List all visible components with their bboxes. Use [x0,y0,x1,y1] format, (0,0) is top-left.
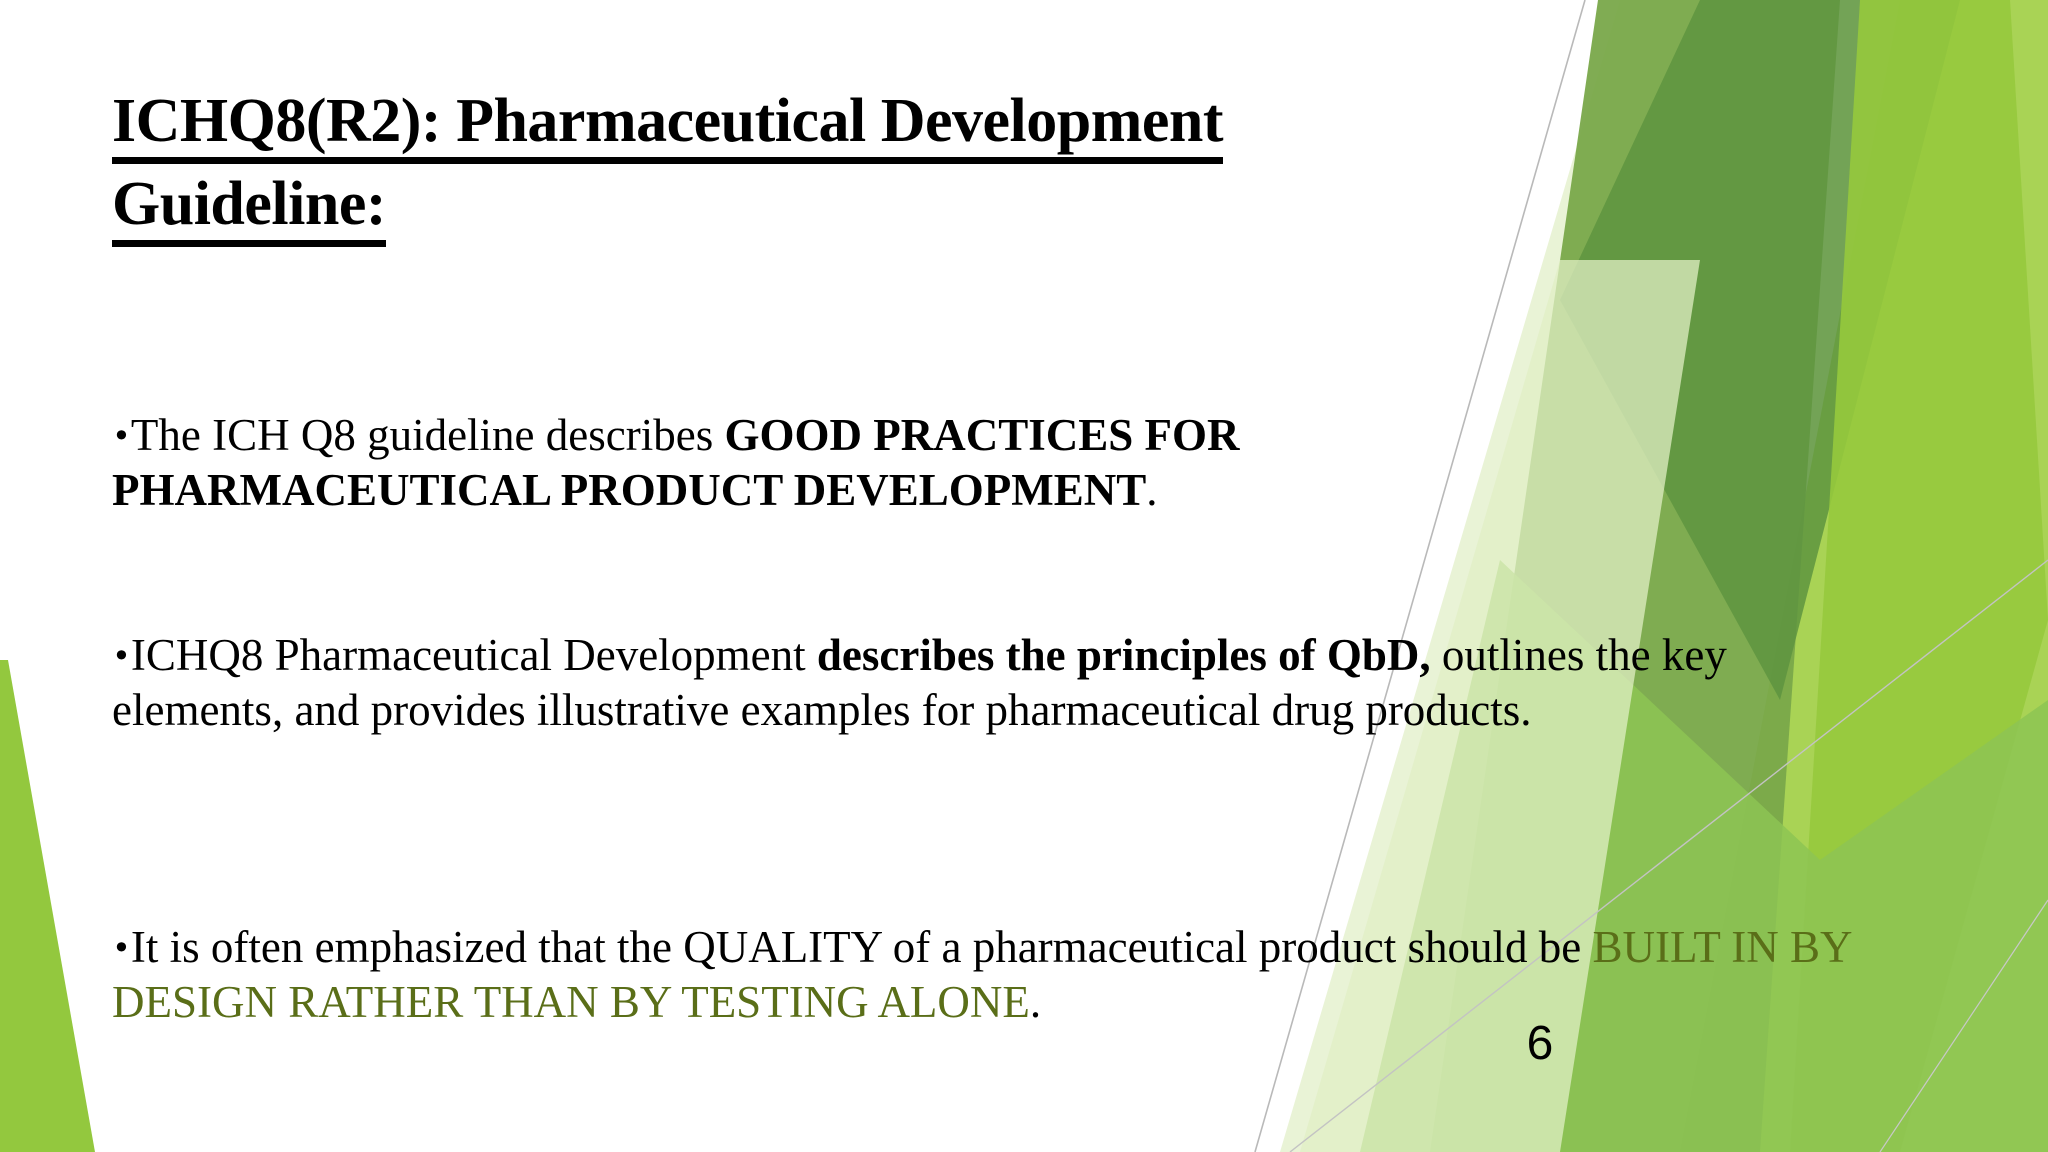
bullet-marker: • [112,637,131,675]
presentation-slide: ICHQ8(R2): Pharmaceutical DevelopmentGui… [0,0,2048,1152]
bullet-item-3: •It is often emphasized that the QUALITY… [112,920,1942,1030]
bullet-3-segment-1: It is often emphasized that the QUALITY … [131,922,1593,972]
bullet-marker: • [112,929,131,967]
slide-title-line-1: ICHQ8(R2): Pharmaceutical Development [112,87,1223,164]
bullet-item-1: •The ICH Q8 guideline describes GOOD PRA… [112,408,1612,518]
bullet-1-segment-3: . [1146,465,1157,515]
bullet-3-segment-3: . [1030,977,1041,1027]
bullet-item-2: •ICHQ8 Pharmaceutical Development descri… [112,628,1902,738]
page-number: 6 [1490,1020,1590,1068]
bullet-2-segment-2-bold: describes the principles of QbD, [817,630,1431,680]
slide-title-line-2: Guideline: [112,170,386,247]
bullet-1-segment-1: The ICH Q8 guideline describes [131,410,725,460]
bullet-2-segment-1: ICHQ8 Pharmaceutical Development [131,630,817,680]
slide-content: ICHQ8(R2): Pharmaceutical DevelopmentGui… [0,0,2048,1152]
slide-title: ICHQ8(R2): Pharmaceutical DevelopmentGui… [112,80,1712,247]
bullet-marker: • [112,417,131,455]
